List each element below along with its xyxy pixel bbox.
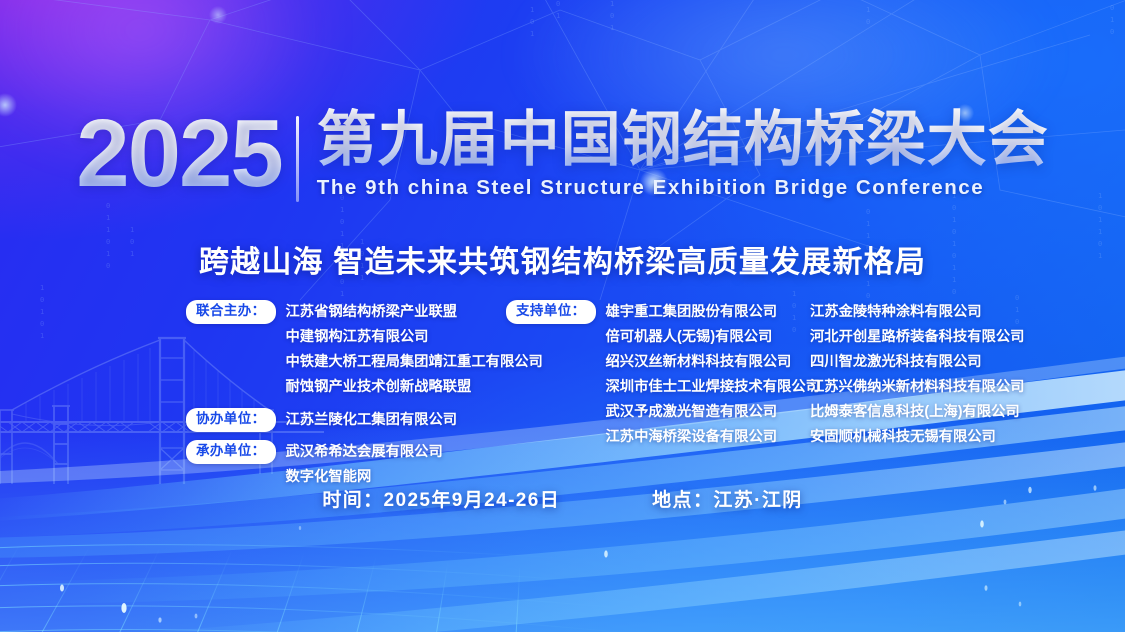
event-date: 时间：2025年9月24-26日: [322, 485, 560, 512]
supporter-row: 支持单位： 雄宇重工集团股份有限公司 倍可机器人(无锡)有限公司 绍兴汉丝新材料…: [506, 300, 804, 450]
list-item: 江苏金陵特种涂料有限公司: [810, 300, 1054, 325]
list-item: 四川智龙激光科技有限公司: [810, 350, 1054, 375]
organizer-column-right: 江苏金陵特种涂料有限公司 河北开创星路桥装备科技有限公司 四川智龙激光科技有限公…: [804, 300, 1054, 497]
page-title: 第九届中国钢结构桥梁大会: [317, 108, 1049, 172]
undertaker-names: 武汉希希达会展有限公司 数字化智能网: [276, 440, 443, 490]
supporter-label: 支持单位：: [506, 300, 596, 324]
page-subtitle-en: The 9th china Steel Structure Exhibition…: [317, 176, 1049, 200]
list-item: 河北开创星路桥装备科技有限公司: [810, 325, 1054, 350]
list-item: 中建钢构江苏有限公司: [286, 325, 543, 350]
supporter-names-column-1: 雄宇重工集团股份有限公司 倍可机器人(无锡)有限公司 绍兴汉丝新材料科技有限公司…: [596, 300, 820, 450]
list-item: 江苏兰陵化工集团有限公司: [286, 408, 458, 433]
list-item: 江苏中海桥梁设备有限公司: [606, 425, 820, 450]
headline-row: 2025 第九届中国钢结构桥梁大会 The 9th china Steel St…: [0, 108, 1125, 202]
list-item: 江苏兴佛纳米新材料科技有限公司: [810, 375, 1054, 400]
list-item: 武汉予成激光智造有限公司: [606, 400, 820, 425]
co-host-names: 江苏省钢结构桥梁产业联盟 中建钢构江苏有限公司 中铁建大桥工程局集团靖江重工有限…: [276, 300, 543, 400]
list-item: 雄宇重工集团股份有限公司: [606, 300, 820, 325]
organizer-columns: 联合主办： 江苏省钢结构桥梁产业联盟 中建钢构江苏有限公司 中铁建大桥工程局集团…: [186, 300, 1086, 497]
undertaker-label: 承办单位：: [186, 440, 276, 464]
organizer-column-left: 联合主办： 江苏省钢结构桥梁产业联盟 中建钢构江苏有限公司 中铁建大桥工程局集团…: [186, 300, 506, 497]
title-block: 第九届中国钢结构桥梁大会 The 9th china Steel Structu…: [299, 108, 1049, 200]
co-host-label: 联合主办：: [186, 300, 276, 324]
list-item: 武汉希希达会展有限公司: [286, 440, 443, 465]
list-item: 深圳市佳士工业焊接技术有限公司: [606, 375, 820, 400]
list-item: 耐蚀钢产业技术创新战略联盟: [286, 375, 543, 400]
list-item: 比姆泰客信息科技(上海)有限公司: [810, 400, 1054, 425]
co-host-row: 联合主办： 江苏省钢结构桥梁产业联盟 中建钢构江苏有限公司 中铁建大桥工程局集团…: [186, 300, 506, 400]
conference-banner: 10101 011010 101 0101101010 1011 101 01 …: [0, 0, 1125, 632]
supporter-names-column-2: 江苏金陵特种涂料有限公司 河北开创星路桥装备科技有限公司 四川智龙激光科技有限公…: [804, 300, 1054, 450]
list-item: 江苏省钢结构桥梁产业联盟: [286, 300, 543, 325]
list-item: 倍可机器人(无锡)有限公司: [606, 325, 820, 350]
list-item: 中铁建大桥工程局集团靖江重工有限公司: [286, 350, 543, 375]
footer-meta: 时间：2025年9月24-26日 地点：江苏·江阴: [0, 485, 1125, 512]
list-item: 绍兴汉丝新材料科技有限公司: [606, 350, 820, 375]
organizer-column-middle: 支持单位： 雄宇重工集团股份有限公司 倍可机器人(无锡)有限公司 绍兴汉丝新材料…: [506, 300, 804, 497]
co-organizer-label: 协办单位：: [186, 408, 276, 432]
co-organizer-row: 协办单位： 江苏兰陵化工集团有限公司: [186, 408, 506, 433]
undertaker-row: 承办单位： 武汉希希达会展有限公司 数字化智能网: [186, 440, 506, 490]
tagline: 跨越山海 智造未来共筑钢结构桥梁高质量发展新格局: [0, 237, 1125, 281]
year-2025: 2025: [76, 108, 296, 200]
event-location: 地点：江苏·江阴: [652, 485, 803, 512]
co-organizer-names: 江苏兰陵化工集团有限公司: [276, 408, 458, 433]
list-item: 安固顺机械科技无锡有限公司: [810, 425, 1054, 450]
